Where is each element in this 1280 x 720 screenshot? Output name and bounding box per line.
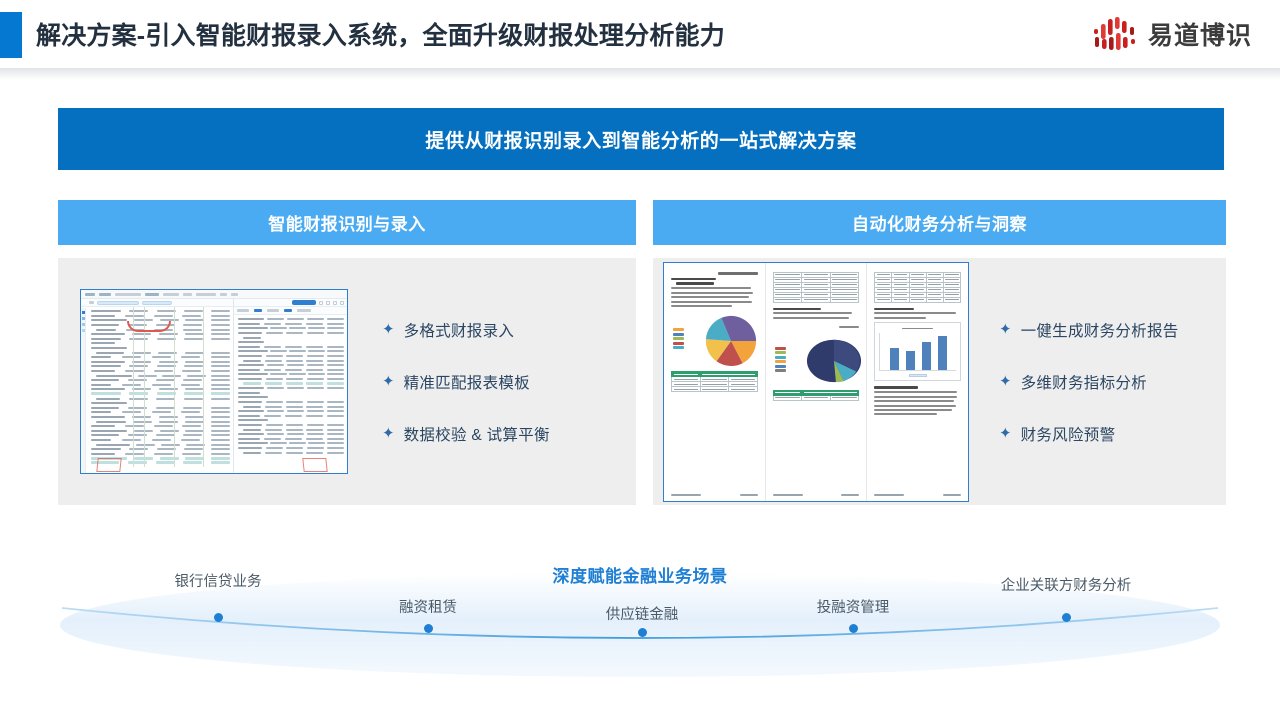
column-analysis-title: 自动化财务分析与洞察: [852, 210, 1027, 235]
column-analysis: 自动化财务分析与洞察: [653, 200, 1226, 505]
report-pages: [664, 263, 968, 501]
sparkle-icon: ✦: [382, 374, 395, 389]
financial-analysis-report-screenshot: [663, 262, 969, 502]
spreadsheet-left-pane: [81, 299, 234, 474]
scenario-dot[interactable]: [849, 624, 858, 633]
column-recognition-header: 智能财报识别与录入: [58, 200, 636, 245]
sparkle-icon: ✦: [382, 322, 395, 337]
spreadsheet-grid: [81, 307, 233, 467]
column-recognition-title: 智能财报识别与录入: [268, 210, 426, 235]
annotation-stamp-left: [96, 458, 121, 472]
annotation-stamp-right: [302, 458, 327, 472]
financial-statement-entry-screenshot: [80, 289, 348, 474]
bar-2022: [938, 336, 947, 371]
annotation-arc: [127, 321, 171, 332]
scenario-label: 企业关联方财务分析: [1001, 574, 1132, 595]
column-recognition-body: ✦ 多格式财报录入 ✦ 精准匹配报表模板 ✦ 数据校验 & 试算平衡: [58, 258, 636, 505]
spreadsheet-toolbar: [81, 290, 347, 299]
list-item: ✦ 多维财务指标分析: [999, 371, 1226, 393]
list-item: ✦ 数据校验 & 试算平衡: [382, 423, 636, 445]
list-item-label: 数据校验 & 试算平衡: [404, 423, 550, 445]
bar-2019: [890, 348, 899, 370]
report-page-1: [664, 263, 766, 501]
scenario-dot[interactable]: [424, 624, 433, 633]
column-recognition: 智能财报识别与录入: [58, 200, 636, 505]
list-item: ✦ 财务风险预警: [999, 423, 1226, 445]
report-table-3: [773, 390, 860, 401]
bar-chart-legend: [909, 374, 927, 377]
list-item-label: 财务风险预警: [1021, 423, 1116, 445]
list-item-label: 多维财务指标分析: [1021, 371, 1147, 393]
list-item: ✦ 多格式财报录入: [382, 319, 636, 341]
list-item: ✦ 精准匹配报表模板: [382, 371, 636, 393]
header-accent-bar: [0, 12, 22, 58]
pie-chart-2: [773, 331, 860, 387]
page-header: 解决方案-引入智能财报录入系统，全面升级财报处理分析能力 易道博识: [0, 0, 1280, 68]
scenario-label: 供应链金融: [606, 603, 679, 624]
sparkle-icon: ✦: [999, 374, 1012, 389]
bar-chart-bars: [879, 333, 956, 371]
page-title: 解决方案-引入智能财报录入系统，全面升级财报处理分析能力: [36, 0, 725, 68]
bar-2020: [906, 351, 915, 371]
scenario-dot[interactable]: [638, 628, 647, 637]
report-page-3: [867, 263, 968, 501]
sparkle-icon: ✦: [382, 426, 395, 441]
list-item: ✦ 一健生成财务分析报告: [999, 319, 1226, 341]
recognition-feature-list: ✦ 多格式财报录入 ✦ 精准匹配报表模板 ✦ 数据校验 & 试算平衡: [348, 319, 636, 445]
column-analysis-body: ✦ 一健生成财务分析报告 ✦ 多维财务指标分析 ✦ 财务风险预警: [653, 258, 1226, 505]
list-item-label: 多格式财报录入: [404, 319, 515, 341]
table-row: [237, 450, 344, 455]
dotted-bars-logo-icon: [1092, 15, 1138, 53]
report-table-2: [773, 272, 860, 303]
spreadsheet-icon-3[interactable]: [333, 301, 337, 305]
list-item-label: 精准匹配报表模板: [404, 371, 530, 393]
scenario-dot[interactable]: [214, 613, 223, 622]
report-table-4: [874, 272, 961, 303]
spreadsheet-right-grid: [234, 315, 347, 457]
spreadsheet-primary-button[interactable]: [292, 300, 316, 305]
scenario-label: 融资租赁: [399, 596, 457, 617]
list-item-label: 一健生成财务分析报告: [1021, 319, 1179, 341]
pie-chart-1: [671, 314, 758, 368]
scenario-label: 银行信贷业务: [175, 570, 262, 591]
report-page-2: [766, 263, 868, 501]
column-analysis-header: 自动化财务分析与洞察: [653, 200, 1226, 245]
solution-banner-text: 提供从财报识别录入到智能分析的一站式解决方案: [425, 126, 856, 153]
solution-banner: 提供从财报识别录入到智能分析的一站式解决方案: [58, 108, 1224, 170]
scenario-dot[interactable]: [1062, 613, 1071, 622]
brand-name: 易道博识: [1148, 16, 1252, 52]
analysis-feature-list: ✦ 一健生成财务分析报告 ✦ 多维财务指标分析 ✦ 财务风险预警: [969, 319, 1226, 445]
spreadsheet-icon-1[interactable]: [319, 301, 323, 305]
scenario-band: 深度赋能金融业务场景 银行信贷业务融资租赁供应链金融投融资管理企业关联方财务分析: [0, 540, 1280, 720]
brand-logo: 易道博识: [1092, 0, 1252, 68]
spreadsheet-icon-2[interactable]: [326, 301, 330, 305]
spreadsheet-body: [81, 299, 347, 474]
assets-change-bar-chart: [874, 322, 961, 382]
spreadsheet-right-pane: [234, 299, 347, 474]
bar-2021: [922, 342, 931, 371]
header-shadow: [0, 68, 1280, 80]
report-table-1: [671, 371, 758, 392]
scenario-label: 投融资管理: [817, 596, 890, 617]
spreadsheet-icon-4[interactable]: [340, 301, 344, 305]
sparkle-icon: ✦: [999, 322, 1012, 337]
sparkle-icon: ✦: [999, 426, 1012, 441]
